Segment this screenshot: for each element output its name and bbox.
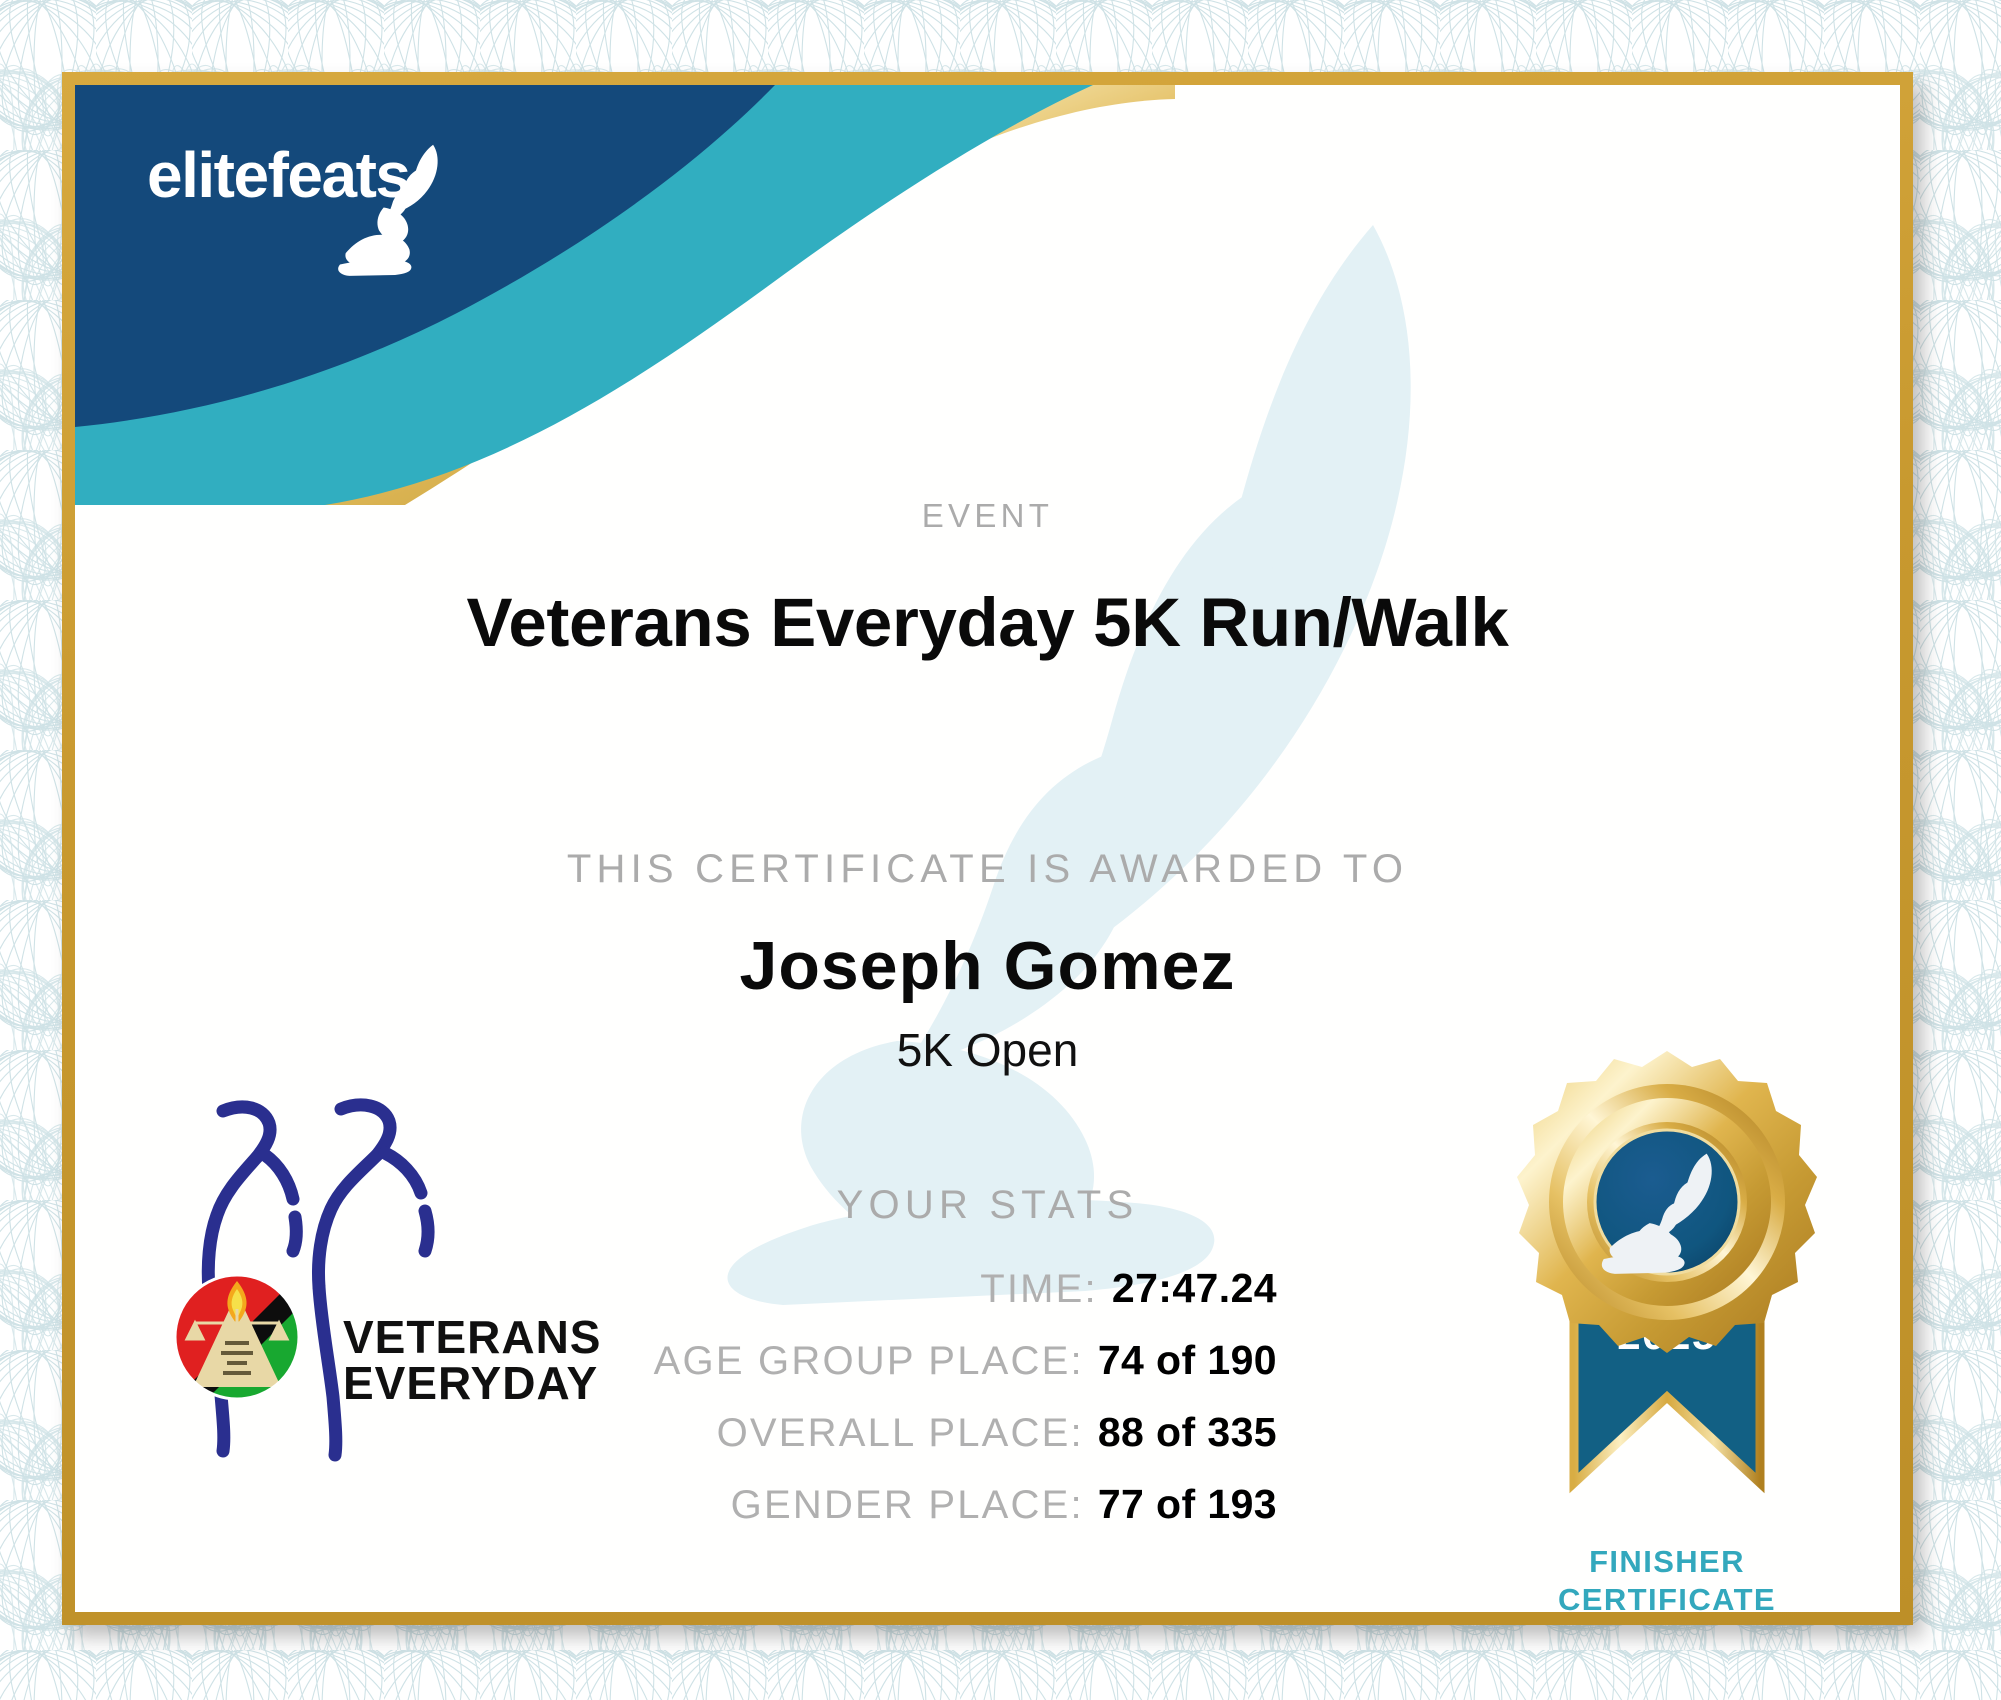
recipient-name: Joseph Gomez — [75, 927, 1900, 1005]
stat-label: OVERALL PLACE: — [717, 1411, 1084, 1456]
certificate-page: elitefeats — [0, 0, 2001, 1700]
stat-value: 27:47.24 — [1112, 1265, 1277, 1312]
pyramid-flame-scales-emblem-icon — [175, 1275, 299, 1399]
stat-label: TIME: — [980, 1267, 1098, 1312]
medal-caption-line2: CERTIFICATE — [1492, 1581, 1842, 1612]
stat-value: 88 of 335 — [1098, 1409, 1277, 1456]
sponsor-wordmark-line2: EVERYDAY — [343, 1357, 598, 1409]
stat-label: GENDER PLACE: — [731, 1483, 1084, 1528]
certificate-body: elitefeats — [75, 85, 1900, 1612]
certificate-gold-border: elitefeats — [62, 72, 1913, 1625]
veterans-everyday-logo: VETERANS EVERYDAY — [165, 1095, 605, 1465]
sponsor-wordmark-line1: VETERANS — [343, 1311, 601, 1363]
event-label: EVENT — [75, 497, 1900, 535]
medal-caption: FINISHER CERTIFICATE — [1492, 1543, 1842, 1612]
medal-starburst — [1517, 1051, 1817, 1353]
medal-caption-line1: FINISHER — [1492, 1543, 1842, 1581]
event-name: Veterans Everyday 5K Run/Walk — [75, 583, 1900, 662]
stat-value: 77 of 193 — [1098, 1481, 1277, 1528]
stat-row: GENDER PLACE: 77 of 193 — [75, 1481, 1277, 1553]
stat-label: AGE GROUP PLACE: — [654, 1339, 1084, 1384]
stat-value: 74 of 190 — [1098, 1337, 1277, 1384]
certificate-content: EVENT Veterans Everyday 5K Run/Walk THIS… — [75, 85, 1900, 1612]
finisher-medal-rosette: 2025 — [1512, 1045, 1822, 1545]
awarded-to-label: THIS CERTIFICATE IS AWARDED TO — [75, 847, 1900, 892]
